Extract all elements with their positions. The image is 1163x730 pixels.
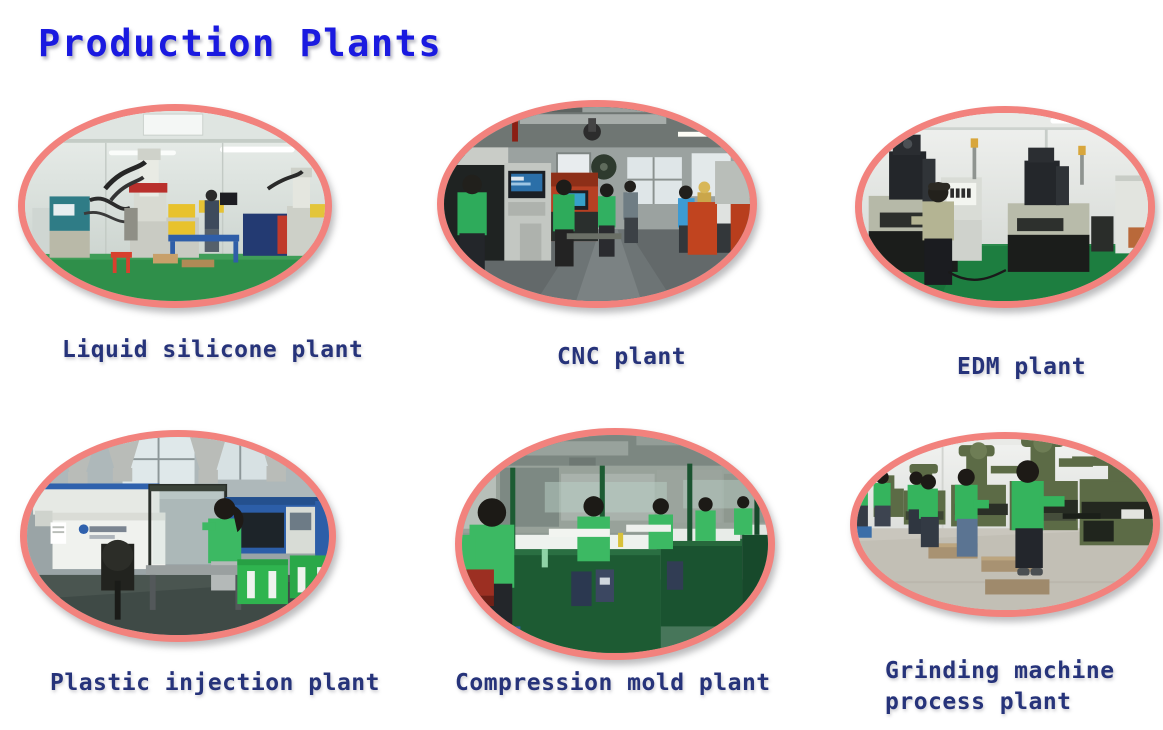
photo-plastic-injection-plant xyxy=(20,430,336,642)
photo-edm-plant xyxy=(855,106,1155,308)
plant-card-liquid-silicone[interactable] xyxy=(18,104,332,308)
photo-compression-mold-plant xyxy=(455,428,775,660)
plant-card-grinding-machine[interactable] xyxy=(850,432,1160,617)
ellipse-photo-frame xyxy=(18,104,332,308)
plants-grid: Liquid silicone plant xyxy=(0,0,1163,730)
ellipse-photo-frame xyxy=(855,106,1155,308)
plant-caption-plastic-injection: Plastic injection plant xyxy=(50,668,380,699)
photo-liquid-silicone-plant xyxy=(18,104,332,308)
ellipse-photo-frame xyxy=(437,100,757,308)
plant-caption-compression-mold: Compression mold plant xyxy=(455,668,771,699)
plant-card-compression-mold[interactable] xyxy=(455,428,775,660)
ellipse-photo-frame xyxy=(20,430,336,642)
plant-caption-liquid-silicone: Liquid silicone plant xyxy=(62,335,363,366)
plant-card-cnc[interactable] xyxy=(437,100,757,308)
plant-caption-grinding-machine: Grinding machine process plant xyxy=(885,656,1115,718)
plant-caption-edm: EDM plant xyxy=(957,352,1086,383)
plant-card-plastic-injection[interactable] xyxy=(20,430,336,642)
ellipse-photo-frame xyxy=(850,432,1160,617)
plant-caption-cnc: CNC plant xyxy=(557,342,686,373)
ellipse-photo-frame xyxy=(455,428,775,660)
photo-grinding-machine-plant xyxy=(850,432,1160,617)
photo-cnc-plant xyxy=(437,100,757,308)
plant-card-edm[interactable] xyxy=(855,106,1155,308)
